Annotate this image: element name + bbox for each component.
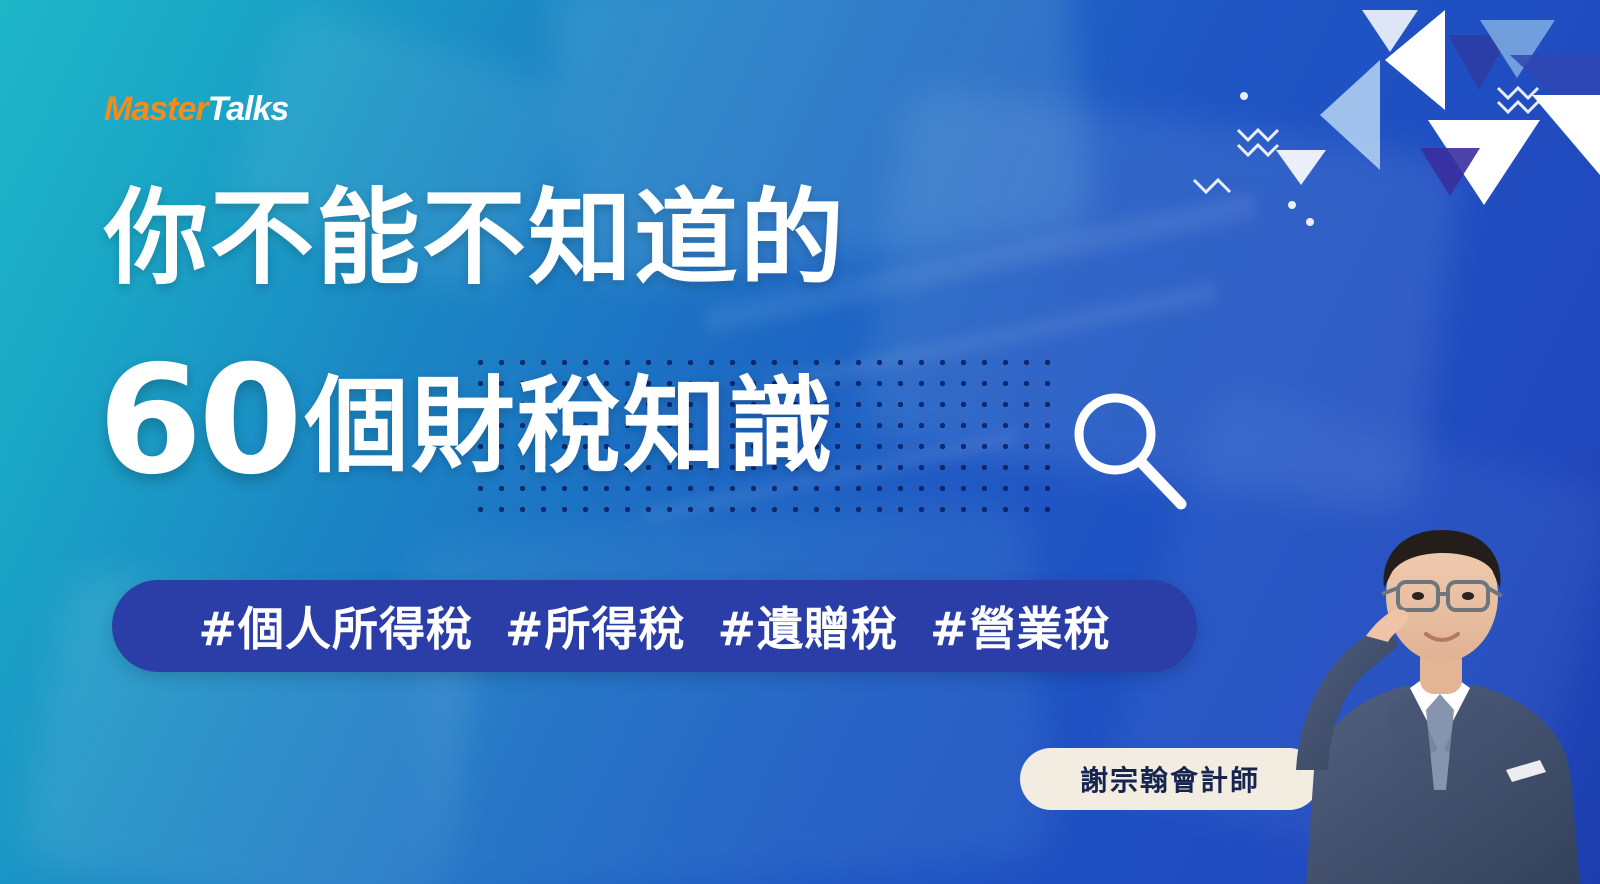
brand-logo: MasterTalks xyxy=(104,90,288,129)
tag-item: #遺贈稅 xyxy=(718,593,899,659)
headline-line-2: 60 個財稅知識 xyxy=(98,352,835,490)
background-texture xyxy=(408,499,1052,884)
brand-logo-talks: Talks xyxy=(208,90,289,128)
tag-item: #所得稅 xyxy=(505,593,686,659)
tag-item: #營業稅 xyxy=(930,593,1111,659)
tag-pill-group: #個人所得稅 #所得稅 #遺贈稅 #營業稅 xyxy=(112,580,1197,672)
search-icon xyxy=(1055,382,1195,512)
brand-logo-master: Master xyxy=(104,90,208,128)
promo-banner: MasterTalks 你不能不知道的 60 個財稅知識 #個人所得稅 #所得稅… xyxy=(0,0,1600,884)
tag-item: #個人所得稅 xyxy=(198,593,473,659)
headline-number: 60 xyxy=(98,352,299,490)
headline-line-2-text: 個財稅知識 xyxy=(305,374,835,490)
headline-line-1: 你不能不知道的 xyxy=(104,182,846,294)
triangle-decoration xyxy=(1180,0,1600,280)
presenter-photo xyxy=(1270,470,1600,884)
speaker-name: 謝宗翰會計師 xyxy=(1080,759,1260,799)
